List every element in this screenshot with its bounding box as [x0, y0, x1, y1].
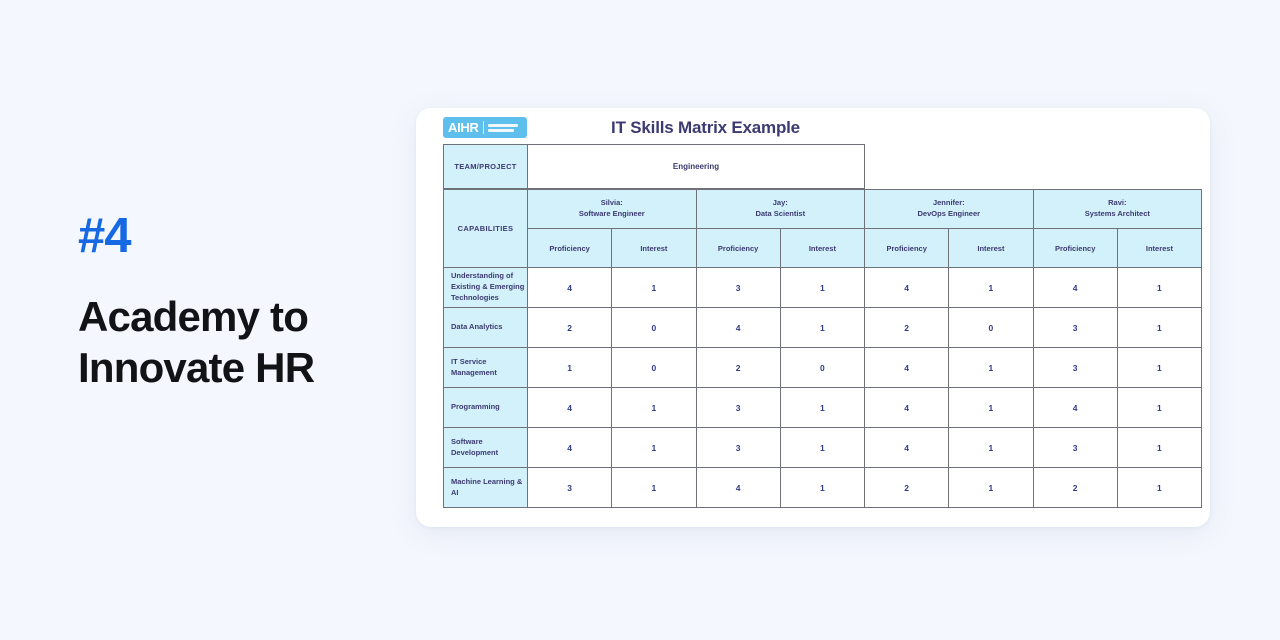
proficiency-score: 1 [528, 348, 612, 388]
team-project-value: Engineering [528, 145, 865, 189]
proficiency-score: 3 [696, 268, 780, 308]
matrix-body: Understanding of Existing & Emerging Tec… [444, 268, 1202, 508]
interest-score: 1 [612, 468, 696, 508]
skills-matrix-card: AIHR IT Skills Matrix Example TEAM/PROJE… [416, 108, 1210, 527]
proficiency-score: 4 [696, 468, 780, 508]
interest-score: 1 [780, 268, 864, 308]
interest-score: 0 [949, 308, 1033, 348]
proficiency-score: 4 [865, 388, 949, 428]
interest-score: 1 [949, 468, 1033, 508]
table-row: Machine Learning & AI31412121 [444, 468, 1202, 508]
person-header-silvia: Silvia: Software Engineer [528, 190, 697, 229]
rank-number: #4 [78, 212, 398, 261]
capability-label: Programming [444, 388, 528, 428]
person-header-jennifer: Jennifer: DevOps Engineer [865, 190, 1034, 229]
proficiency-score: 4 [865, 348, 949, 388]
person-header-row: CAPABILITIES Silvia: Software Engineer J… [444, 190, 1202, 229]
interest-score: 1 [1117, 268, 1201, 308]
table-row: Software Development41314131 [444, 428, 1202, 468]
interest-score: 1 [780, 468, 864, 508]
metric-header-interest: Interest [612, 229, 696, 268]
page-title: IT Skills Matrix Example [416, 118, 1210, 138]
interest-score: 1 [612, 428, 696, 468]
person-name: Silvia: [528, 198, 696, 209]
interest-score: 1 [949, 268, 1033, 308]
interest-score: 1 [780, 428, 864, 468]
person-name: Ravi: [1034, 198, 1202, 209]
proficiency-score: 4 [1033, 268, 1117, 308]
proficiency-score: 4 [528, 268, 612, 308]
interest-score: 1 [1117, 388, 1201, 428]
interest-score: 1 [1117, 348, 1201, 388]
capability-label: Understanding of Existing & Emerging Tec… [444, 268, 528, 308]
brand-title: Academy to Innovate HR [78, 291, 398, 393]
matrix-head: CAPABILITIES Silvia: Software Engineer J… [444, 190, 1202, 268]
interest-score: 1 [1117, 308, 1201, 348]
proficiency-score: 2 [1033, 468, 1117, 508]
proficiency-score: 2 [528, 308, 612, 348]
person-role: Software Engineer [528, 209, 696, 220]
brand-title-line-1: Academy to [78, 291, 398, 342]
proficiency-score: 4 [865, 428, 949, 468]
metric-header-proficiency: Proficiency [1033, 229, 1117, 268]
team-project-label: TEAM/PROJECT [444, 145, 528, 189]
person-role: DevOps Engineer [865, 209, 1033, 220]
table-row: Programming41314141 [444, 388, 1202, 428]
interest-score: 1 [949, 388, 1033, 428]
metric-header-proficiency: Proficiency [865, 229, 949, 268]
interest-score: 1 [949, 348, 1033, 388]
capability-label: Software Development [444, 428, 528, 468]
skills-matrix-table: CAPABILITIES Silvia: Software Engineer J… [443, 189, 1202, 508]
interest-score: 1 [780, 388, 864, 428]
person-role: Data Scientist [697, 209, 865, 220]
interest-score: 0 [612, 308, 696, 348]
capability-label: Data Analytics [444, 308, 528, 348]
proficiency-score: 2 [696, 348, 780, 388]
interest-score: 1 [1117, 468, 1201, 508]
proficiency-score: 3 [528, 468, 612, 508]
proficiency-score: 2 [865, 308, 949, 348]
card-header: AIHR IT Skills Matrix Example [416, 108, 1210, 148]
interest-score: 1 [612, 388, 696, 428]
person-header-ravi: Ravi: Systems Architect [1033, 190, 1202, 229]
proficiency-score: 4 [528, 388, 612, 428]
metric-header-interest: Interest [1117, 229, 1201, 268]
capabilities-header: CAPABILITIES [444, 190, 528, 268]
person-name: Jay: [697, 198, 865, 209]
metric-header-interest: Interest [949, 229, 1033, 268]
metric-header-proficiency: Proficiency [528, 229, 612, 268]
table-row: Understanding of Existing & Emerging Tec… [444, 268, 1202, 308]
proficiency-score: 4 [865, 268, 949, 308]
interest-score: 0 [780, 348, 864, 388]
person-header-jay: Jay: Data Scientist [696, 190, 865, 229]
team-project-row: TEAM/PROJECT Engineering [444, 145, 865, 189]
proficiency-score: 3 [1033, 348, 1117, 388]
proficiency-score: 3 [1033, 308, 1117, 348]
proficiency-score: 2 [865, 468, 949, 508]
proficiency-score: 4 [1033, 388, 1117, 428]
metric-header-row: Proficiency Interest Proficiency Interes… [444, 229, 1202, 268]
table-row: Data Analytics20412031 [444, 308, 1202, 348]
interest-score: 1 [780, 308, 864, 348]
brand-title-line-2: Innovate HR [78, 342, 398, 393]
proficiency-score: 4 [696, 308, 780, 348]
interest-score: 1 [949, 428, 1033, 468]
metric-header-interest: Interest [780, 229, 864, 268]
proficiency-score: 3 [1033, 428, 1117, 468]
interest-score: 1 [612, 268, 696, 308]
capability-label: IT Service Management [444, 348, 528, 388]
person-role: Systems Architect [1034, 209, 1202, 220]
table-row: IT Service Management10204131 [444, 348, 1202, 388]
interest-score: 1 [1117, 428, 1201, 468]
metric-header-proficiency: Proficiency [696, 229, 780, 268]
person-name: Jennifer: [865, 198, 1033, 209]
proficiency-score: 3 [696, 388, 780, 428]
capability-label: Machine Learning & AI [444, 468, 528, 508]
proficiency-score: 4 [528, 428, 612, 468]
interest-score: 0 [612, 348, 696, 388]
team-project-table: TEAM/PROJECT Engineering [443, 144, 865, 189]
proficiency-score: 3 [696, 428, 780, 468]
left-text-panel: #4 Academy to Innovate HR [78, 212, 398, 393]
